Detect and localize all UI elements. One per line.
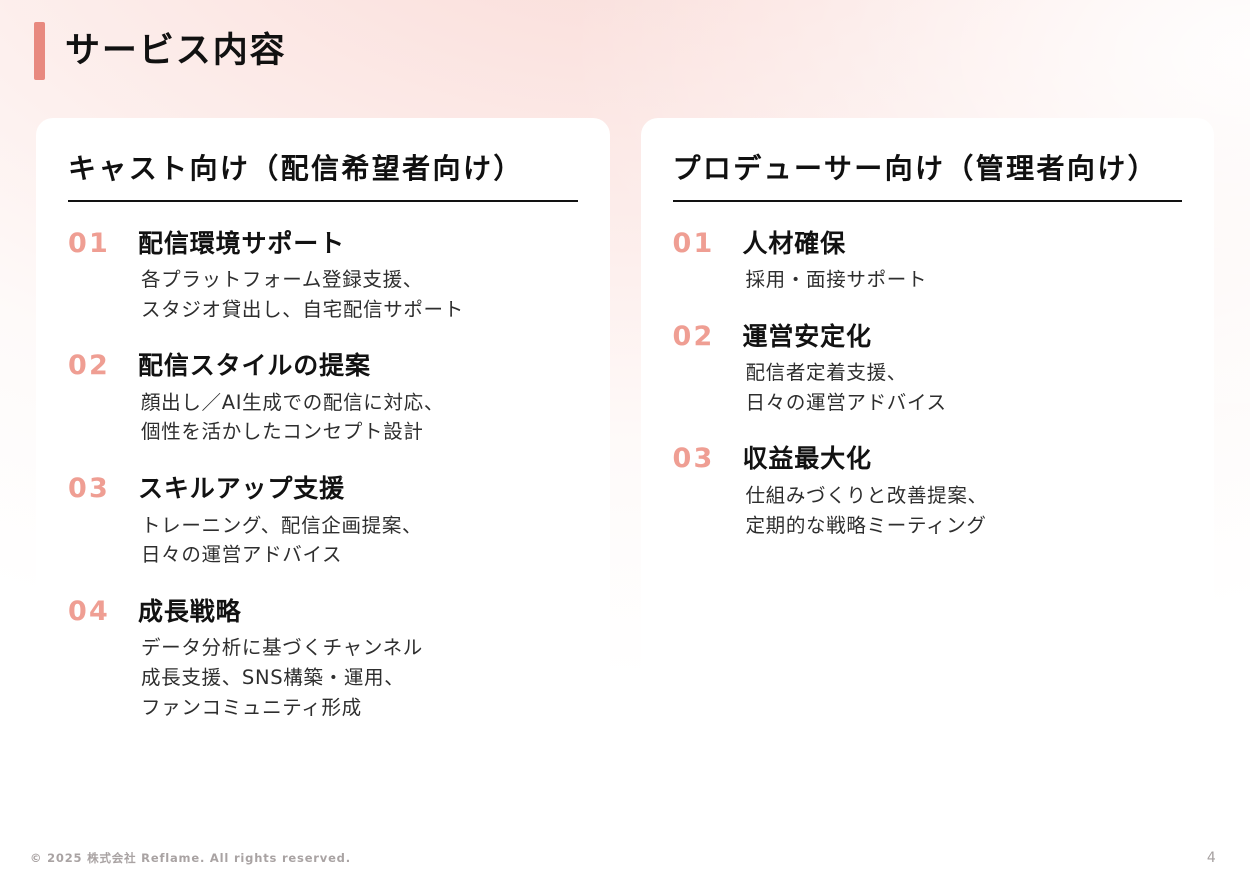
list-item: 02 配信スタイルの提案 顔出し／AI生成での配信に対応、 個性を活かしたコンセ… [68,351,578,447]
item-description: 仕組みづくりと改善提案、 定期的な戦略ミーティング [743,481,1183,540]
card-producer: プロデューサー向け（管理者向け） 01 人材確保 採用・面接サポート 02 運営… [641,118,1215,815]
list-item: 03 収益最大化 仕組みづくりと改善提案、 定期的な戦略ミーティング [673,444,1183,540]
item-title: 人材確保 [743,229,1183,260]
service-list-cast: 01 配信環境サポート 各プラットフォーム登録支援、 スタジオ貸出し、自宅配信サ… [68,229,578,723]
list-item: 01 配信環境サポート 各プラットフォーム登録支援、 スタジオ貸出し、自宅配信サ… [68,229,578,325]
item-title: 収益最大化 [743,444,1183,475]
card-cast: キャスト向け（配信希望者向け） 01 配信環境サポート 各プラットフォーム登録支… [36,118,610,815]
item-description: 配信者定着支援、 日々の運営アドバイス [743,358,1183,417]
item-description: データ分析に基づくチャンネル 成長支援、SNS構築・運用、 ファンコミュニティ形… [138,633,578,722]
slide-canvas: サービス内容 キャスト向け（配信希望者向け） 01 配信環境サポート 各プラット… [0,0,1250,883]
slide-footer: © 2025 株式会社 Reflame. All rights reserved… [0,845,1250,871]
item-title: 成長戦略 [138,597,578,628]
item-description: トレーニング、配信企画提案、 日々の運営アドバイス [138,511,578,570]
item-description: 顔出し／AI生成での配信に対応、 個性を活かしたコンセプト設計 [138,388,578,447]
list-item: 04 成長戦略 データ分析に基づくチャンネル 成長支援、SNS構築・運用、 ファ… [68,597,578,722]
card-title-producer: プロデューサー向け（管理者向け） [673,152,1183,186]
item-title: スキルアップ支援 [138,474,578,505]
page-title: サービス内容 [65,34,287,69]
card-title-cast: キャスト向け（配信希望者向け） [68,152,578,186]
slide-header: サービス内容 [34,22,287,80]
service-card-row: キャスト向け（配信希望者向け） 01 配信環境サポート 各プラットフォーム登録支… [36,118,1214,815]
card-title-divider [673,200,1183,202]
item-title: 配信スタイルの提案 [138,351,578,382]
item-number: 04 [68,597,120,627]
item-body: 配信環境サポート 各プラットフォーム登録支援、 スタジオ貸出し、自宅配信サポート [138,229,578,325]
list-item: 03 スキルアップ支援 トレーニング、配信企画提案、 日々の運営アドバイス [68,474,578,570]
item-body: スキルアップ支援 トレーニング、配信企画提案、 日々の運営アドバイス [138,474,578,570]
item-number: 01 [673,229,725,259]
item-body: 配信スタイルの提案 顔出し／AI生成での配信に対応、 個性を活かしたコンセプト設… [138,351,578,447]
item-number: 03 [68,474,120,504]
item-body: 成長戦略 データ分析に基づくチャンネル 成長支援、SNS構築・運用、 ファンコミ… [138,597,578,722]
list-item: 02 運営安定化 配信者定着支援、 日々の運営アドバイス [673,322,1183,418]
service-list-producer: 01 人材確保 採用・面接サポート 02 運営安定化 配信者定着支援、 日々の運… [673,229,1183,541]
item-number: 02 [68,351,120,381]
item-number: 02 [673,322,725,352]
item-number: 01 [68,229,120,259]
item-body: 収益最大化 仕組みづくりと改善提案、 定期的な戦略ミーティング [743,444,1183,540]
copyright-text: © 2025 株式会社 Reflame. All rights reserved… [30,850,351,866]
item-title: 運営安定化 [743,322,1183,353]
list-item: 01 人材確保 採用・面接サポート [673,229,1183,295]
card-title-divider [68,200,578,202]
item-body: 人材確保 採用・面接サポート [743,229,1183,295]
item-body: 運営安定化 配信者定着支援、 日々の運営アドバイス [743,322,1183,418]
item-description: 各プラットフォーム登録支援、 スタジオ貸出し、自宅配信サポート [138,265,578,324]
page-number: 4 [1207,850,1216,866]
item-description: 採用・面接サポート [743,265,1183,295]
item-title: 配信環境サポート [138,229,578,260]
title-accent-bar [34,22,45,80]
item-number: 03 [673,444,725,474]
